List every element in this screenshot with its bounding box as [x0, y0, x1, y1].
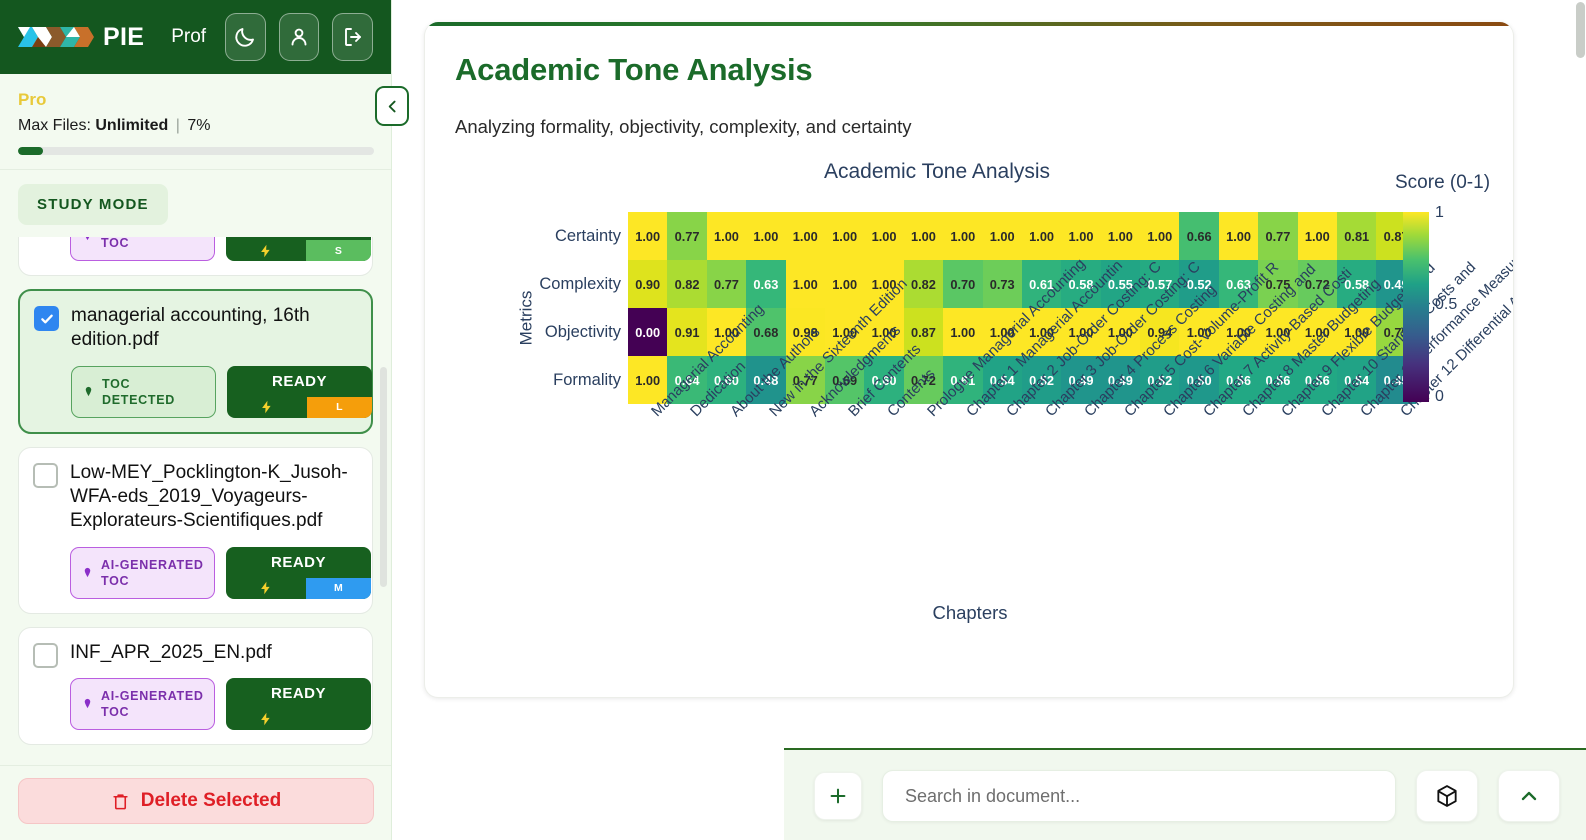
- toc-status-badge: AI-GENERATED TOC: [70, 547, 215, 599]
- bolt-icon: [258, 243, 273, 259]
- pie-logo-icon: [18, 25, 94, 49]
- file-name: managerial accounting, 16th edition.pdf: [71, 304, 357, 353]
- brand-name: PIE: [103, 23, 144, 52]
- file-size-tag: [306, 709, 371, 730]
- toc-status-badge: AI-GENERATED TOC: [70, 237, 215, 261]
- delete-selected-button[interactable]: Delete Selected: [18, 778, 374, 824]
- speed-indicator: [227, 397, 307, 418]
- pin-icon: [82, 237, 93, 243]
- dark-mode-toggle[interactable]: [225, 13, 266, 61]
- heatmap-cell[interactable]: 1.00: [707, 212, 746, 260]
- file-list-scrollbar[interactable]: [380, 367, 387, 587]
- heatmap-cell[interactable]: 1.00: [1140, 212, 1179, 260]
- heatmap-cell[interactable]: 0.00: [628, 308, 667, 356]
- ready-label: READY: [226, 678, 371, 709]
- colorbar-tick-0: 0: [1435, 388, 1444, 406]
- usage-progress-fill: [18, 147, 43, 155]
- speed-indicator: [226, 709, 306, 730]
- heatmap-cell[interactable]: 0.73: [983, 260, 1022, 308]
- heatmap-cell[interactable]: 1.00: [904, 212, 943, 260]
- account-button[interactable]: [279, 13, 320, 61]
- max-files-label: Max Files:: [18, 117, 91, 134]
- file-size-tag: L: [307, 397, 372, 418]
- main-scrollbar[interactable]: [1576, 2, 1585, 58]
- usage-progress-bar: [18, 147, 374, 155]
- search-box[interactable]: [882, 770, 1396, 822]
- file-list: AI-GENERATED TOCREADYSmanagerial account…: [18, 237, 373, 745]
- toc-status-badge: AI-GENERATED TOC: [70, 678, 215, 730]
- colorbar-title: Score (0-1): [1395, 172, 1490, 194]
- file-card[interactable]: INF_APR_2025_EN.pdfAI-GENERATED TOCREADY: [18, 627, 373, 745]
- heatmap-cell[interactable]: 0.77: [667, 212, 706, 260]
- cube-icon: [1434, 783, 1460, 809]
- moon-icon: [233, 25, 257, 49]
- sidebar-collapse-button[interactable]: [375, 86, 409, 126]
- heatmap-cell[interactable]: 1.00: [983, 212, 1022, 260]
- main-panel: Academic Tone Analysis Analyzing formali…: [392, 0, 1586, 840]
- toc-status-badge: TOC DETECTED: [71, 366, 216, 418]
- heatmap-cell[interactable]: 1.00: [1101, 212, 1140, 260]
- heatmap-cell[interactable]: 1.00: [943, 308, 982, 356]
- logout-icon: [341, 25, 365, 49]
- heatmap-cell[interactable]: 0.77: [1258, 212, 1297, 260]
- file-list-scroll-area[interactable]: AI-GENERATED TOCREADYSmanagerial account…: [0, 237, 391, 765]
- model-3d-button[interactable]: [1416, 770, 1478, 822]
- toc-status-label: AI-GENERATED TOC: [101, 557, 206, 589]
- file-name: Low-MEY_Pocklington-K_Jusoh-WFA-eds_2019…: [70, 461, 358, 534]
- pin-icon: [82, 696, 93, 711]
- max-files-value: Unlimited: [95, 117, 168, 134]
- plan-usage-text: Max Files: Unlimited | 7%: [18, 117, 373, 135]
- page-title: Academic Tone Analysis: [455, 52, 1483, 88]
- heatmap-cell[interactable]: 0.66: [1179, 212, 1218, 260]
- file-size-tag: S: [306, 240, 371, 261]
- speed-indicator: [226, 240, 306, 261]
- study-mode-row: STUDY MODE: [0, 170, 391, 237]
- speed-indicator: [226, 578, 306, 599]
- collapse-toolbar-button[interactable]: [1498, 770, 1560, 822]
- heatmap-cell[interactable]: 1.00: [825, 260, 864, 308]
- heatmap-cell[interactable]: 0.82: [667, 260, 706, 308]
- bolt-icon: [259, 399, 274, 415]
- trash-icon: [111, 791, 130, 812]
- heatmap-cell[interactable]: 0.91: [667, 308, 706, 356]
- colorbar-tick-0.5: 0.5: [1435, 296, 1457, 314]
- heatmap-cell[interactable]: 0.81: [1337, 212, 1376, 260]
- ready-label: READY: [226, 547, 371, 578]
- heatmap-cell[interactable]: 1.00: [786, 212, 825, 260]
- processing-status-badge: READYS: [226, 237, 371, 261]
- heatmap-y-tick-label: Certainty: [555, 228, 628, 245]
- app-logo: PIE: [18, 23, 144, 52]
- heatmap-cell[interactable]: 1.00: [786, 260, 825, 308]
- heatmap-cell[interactable]: 1.00: [1061, 212, 1100, 260]
- heatmap-x-tick-labels: Managerial AccountingDedicationAbout the…: [628, 404, 1388, 634]
- colorbar-tick-1: 1: [1435, 204, 1444, 222]
- page-subtitle: Analyzing formality, objectivity, comple…: [455, 116, 1483, 138]
- heatmap-cell[interactable]: 1.00: [628, 212, 667, 260]
- bottom-toolbar: [784, 748, 1586, 840]
- logout-button[interactable]: [332, 13, 373, 61]
- file-select-checkbox[interactable]: [33, 643, 58, 668]
- file-name: INF_APR_2025_EN.pdf: [70, 641, 358, 665]
- heatmap-cell[interactable]: 1.00: [1219, 212, 1258, 260]
- file-card[interactable]: AI-GENERATED TOCREADYS: [18, 237, 373, 276]
- toc-status-label: TOC DETECTED: [102, 376, 207, 408]
- pin-icon: [83, 384, 94, 399]
- delete-row: Delete Selected: [0, 765, 391, 840]
- usage-separator: |: [176, 117, 180, 134]
- processing-status-badge: READYL: [227, 366, 372, 418]
- user-label: Prof: [171, 26, 206, 48]
- chart-ylabel: Metrics: [516, 291, 536, 346]
- toc-status-label: AI-GENERATED TOC: [101, 237, 206, 251]
- processing-status-badge: READY: [226, 678, 371, 730]
- heatmap-cell[interactable]: 0.90: [628, 260, 667, 308]
- check-icon: [39, 311, 55, 327]
- heatmap-cell[interactable]: 0.82: [904, 260, 943, 308]
- bolt-icon: [258, 580, 273, 596]
- plan-summary: Pro Max Files: Unlimited | 7%: [0, 74, 391, 165]
- toc-status-label: AI-GENERATED TOC: [101, 688, 206, 720]
- heatmap-cell[interactable]: 1.00: [1298, 212, 1337, 260]
- bolt-icon: [258, 711, 273, 727]
- heatmap-cell[interactable]: 0.77: [707, 260, 746, 308]
- heatmap-row: Certainty1.000.771.001.001.001.001.001.0…: [628, 212, 1416, 260]
- heatmap-cell[interactable]: 0.70: [943, 260, 982, 308]
- chevron-up-icon: [1517, 784, 1541, 808]
- heatmap-y-tick-label: Complexity: [539, 276, 628, 293]
- analysis-card: Academic Tone Analysis Analyzing formali…: [424, 22, 1514, 698]
- chart-title: Academic Tone Analysis: [537, 160, 1337, 184]
- heatmap-y-tick-label: Formality: [553, 372, 628, 389]
- pin-icon: [82, 565, 93, 580]
- chevron-left-icon: [384, 98, 401, 115]
- file-select-checkbox[interactable]: [34, 306, 59, 331]
- heatmap-cell[interactable]: 1.00: [943, 212, 982, 260]
- heatmap-cell[interactable]: 1.00: [825, 212, 864, 260]
- colorbar: [1403, 212, 1429, 402]
- heatmap-chart: Academic Tone Analysis Metrics Chapters …: [455, 160, 1485, 640]
- study-mode-button[interactable]: STUDY MODE: [18, 184, 168, 225]
- heatmap-cell[interactable]: 1.00: [1022, 212, 1061, 260]
- file-size-tag: M: [306, 578, 371, 599]
- delete-selected-label: Delete Selected: [141, 790, 281, 812]
- usage-percent: 7%: [187, 117, 210, 134]
- plus-icon: [827, 785, 849, 807]
- file-card[interactable]: Low-MEY_Pocklington-K_Jusoh-WFA-eds_2019…: [18, 447, 373, 614]
- user-icon: [287, 25, 311, 49]
- heatmap-cell[interactable]: 1.00: [864, 212, 903, 260]
- heatmap-y-tick-label: Objectivity: [545, 324, 628, 341]
- processing-status-badge: READYM: [226, 547, 371, 599]
- heatmap-cell[interactable]: 1.00: [746, 212, 785, 260]
- file-select-checkbox[interactable]: [33, 463, 58, 488]
- heatmap-cell[interactable]: 0.63: [746, 260, 785, 308]
- app-header: PIE Prof: [0, 0, 391, 74]
- ready-label: READY: [227, 366, 372, 397]
- sidebar: PIE Prof Pro: [0, 0, 392, 840]
- add-button[interactable]: [814, 772, 862, 820]
- plan-name: Pro: [18, 90, 373, 110]
- file-card[interactable]: managerial accounting, 16th edition.pdfT…: [18, 289, 373, 434]
- search-input[interactable]: [905, 786, 1373, 807]
